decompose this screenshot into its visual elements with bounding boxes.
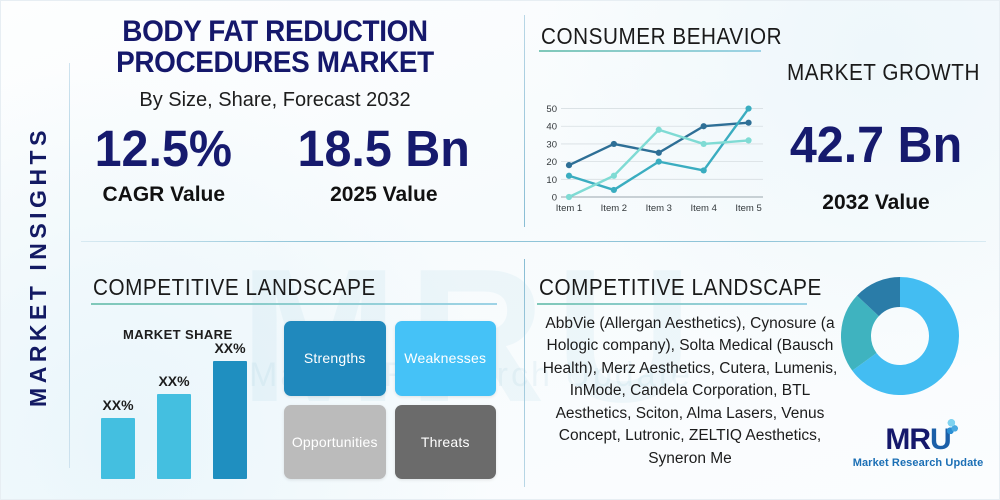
vertical-divider-top <box>524 15 525 227</box>
section-heading-competitive-landscape-left: COMPETITIVE LANDSCAPE <box>93 274 376 301</box>
section-heading-competitive-landscape-right: COMPETITIVE LANDSCAPE <box>539 274 822 301</box>
market-share-bar-rect-2 <box>157 394 191 479</box>
kpi-group: 12.5% CAGR Value 18.5 Bn 2025 Value <box>63 123 503 207</box>
svg-text:40: 40 <box>546 122 557 133</box>
mru-logo-wordmark: MRU <box>885 425 950 455</box>
mru-logo: MRU Market Research Update <box>847 425 989 469</box>
market-growth-label: 2032 Value <box>761 191 991 215</box>
swot-cell-strengths[interactable]: Strengths <box>284 321 386 396</box>
market-share-bar-rect-1 <box>101 418 135 479</box>
vertical-divider-bottom <box>524 259 525 487</box>
market-share-bar-2: XX% <box>157 373 191 479</box>
mru-logo-tagline: Market Research Update <box>847 457 989 469</box>
sparkle-icon <box>947 418 958 434</box>
market-share-bar-label-3: XX% <box>214 340 245 356</box>
section-underline-competitive-landscape-right <box>537 303 807 305</box>
page-subtitle: By Size, Share, Forecast 2032 <box>49 89 501 112</box>
swot-cell-opportunities[interactable]: Opportunities <box>284 405 386 480</box>
svg-text:Item 5: Item 5 <box>735 203 761 214</box>
section-underline-competitive-landscape-left <box>91 303 497 305</box>
market-insights-rail-label: MARKET INSIGHTS <box>25 126 52 407</box>
svg-text:50: 50 <box>546 104 557 115</box>
market-share-bar-chart: XX%XX%XX% <box>101 337 281 479</box>
market-insights-rail: MARKET INSIGHTS <box>9 61 67 471</box>
market-share-bar-3: XX% <box>213 340 247 479</box>
consumer-behavior-line-chart: 01020304050 Item 1Item 2Item 3Item 4Item… <box>535 99 765 221</box>
market-share-bar-1: XX% <box>101 397 135 479</box>
section-underline-consumer-behavior <box>539 50 761 52</box>
kpi-2025-label: 2025 Value <box>293 183 474 207</box>
page-title: BODY FAT REDUCTION PROCEDURES MARKET <box>65 17 485 79</box>
mru-logo-mr: MR <box>885 423 930 456</box>
company-list: AbbVie (Allergan Aesthetics), Cynosure (… <box>537 313 843 470</box>
svg-text:30: 30 <box>546 139 557 150</box>
market-share-donut-chart <box>841 277 959 395</box>
svg-text:Item 3: Item 3 <box>646 203 672 214</box>
kpi-cagr: 12.5% CAGR Value <box>91 123 236 207</box>
kpi-2025-value: 18.5 Bn <box>298 123 470 174</box>
svg-text:Item 2: Item 2 <box>601 203 627 214</box>
line-chart-ytick-labels: 01020304050 <box>546 104 557 203</box>
section-heading-consumer-behavior: CONSUMER BEHAVIOR <box>541 23 782 50</box>
horizontal-divider <box>81 241 986 242</box>
line-chart-xtick-labels: Item 1Item 2Item 3Item 4Item 5 <box>556 203 762 214</box>
svg-text:10: 10 <box>546 175 557 186</box>
swot-cell-threats[interactable]: Threats <box>395 405 497 480</box>
kpi-cagr-label: CAGR Value <box>91 183 236 207</box>
donut-segment-2 <box>856 306 868 362</box>
swot-grid: StrengthsWeaknessesOpportunitiesThreats <box>284 321 496 479</box>
svg-text:Item 4: Item 4 <box>690 203 716 214</box>
donut-segment-3 <box>868 292 900 306</box>
market-share-bar-rect-3 <box>213 361 247 479</box>
svg-text:20: 20 <box>546 157 557 168</box>
line-chart-series <box>566 105 752 200</box>
market-growth-value: 42.7 Bn <box>767 119 986 170</box>
svg-text:Item 1: Item 1 <box>556 203 582 214</box>
kpi-2025: 18.5 Bn 2025 Value <box>293 123 474 207</box>
market-share-bar-label-1: XX% <box>102 397 133 413</box>
kpi-cagr-value: 12.5% <box>95 123 232 174</box>
infographic-canvas: MRU Market Research Update MARKET INSIGH… <box>0 0 1000 500</box>
market-share-bar-label-2: XX% <box>158 373 189 389</box>
svg-text:0: 0 <box>552 193 557 204</box>
swot-cell-weaknesses[interactable]: Weaknesses <box>395 321 497 396</box>
section-heading-market-growth: MARKET GROWTH <box>787 59 980 86</box>
